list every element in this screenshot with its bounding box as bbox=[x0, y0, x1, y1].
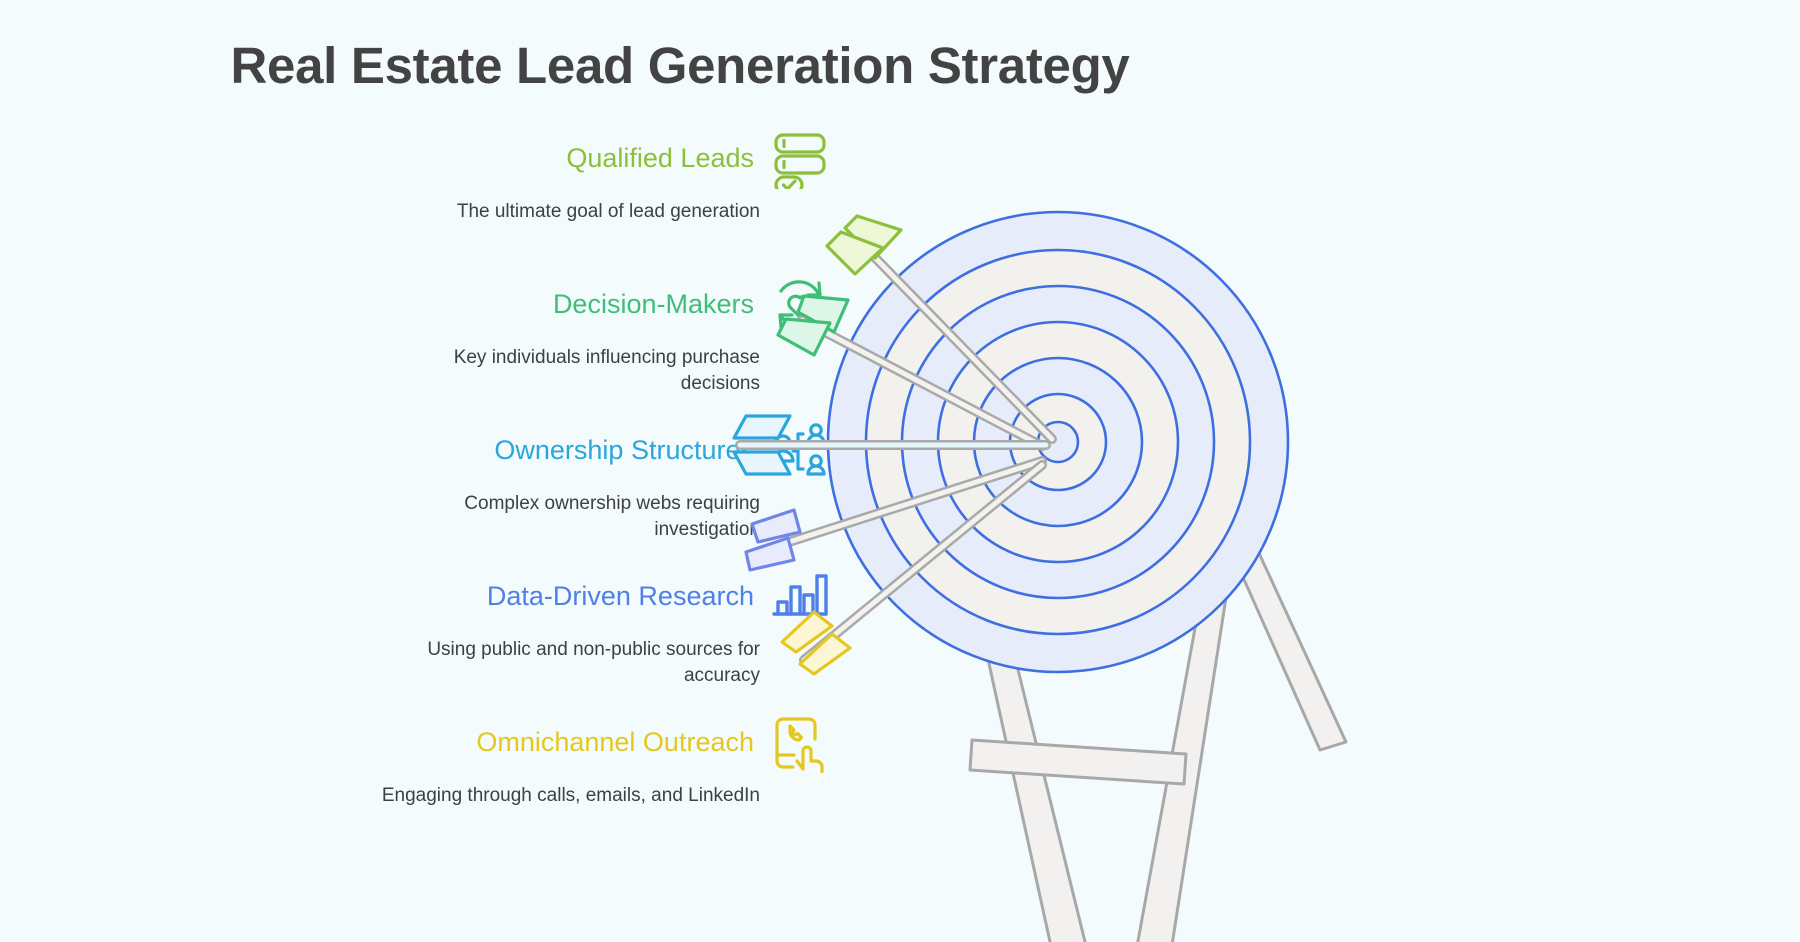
list-item-header: Data-Driven Research bbox=[300, 566, 830, 628]
list-item-description: The ultimate goal of lead generation bbox=[370, 199, 830, 225]
strategy-list: Qualified Leads The ultimate goal of lea… bbox=[300, 128, 830, 858]
list-item-description: Engaging through calls, emails, and Link… bbox=[370, 783, 830, 809]
list-item-data-driven-research: Data-Driven Research Using public and no… bbox=[300, 566, 830, 712]
page-title: Real Estate Lead Generation Strategy bbox=[0, 36, 1360, 95]
list-item-header: Qualified Leads bbox=[300, 128, 830, 190]
list-item-header: Omnichannel Outreach bbox=[300, 712, 830, 774]
archery-target-illustration bbox=[820, 180, 1580, 942]
list-item-header: Decision-Makers bbox=[300, 274, 830, 336]
list-item-omnichannel-outreach: Omnichannel Outreach Engaging through ca… bbox=[300, 712, 830, 858]
infographic-canvas: Real Estate Lead Generation Strategy Qua… bbox=[0, 0, 1800, 942]
list-item-title: Qualified Leads bbox=[566, 144, 754, 174]
list-item-title: Omnichannel Outreach bbox=[476, 728, 754, 758]
list-item-title: Decision-Makers bbox=[553, 290, 754, 320]
list-item-qualified-leads: Qualified Leads The ultimate goal of lea… bbox=[300, 128, 830, 274]
list-item-description: Using public and non-public sources for … bbox=[370, 637, 830, 689]
list-item-title: Ownership Structures bbox=[494, 436, 754, 466]
list-item-decision-makers: Decision-Makers Key individuals influenc… bbox=[300, 274, 830, 420]
list-item-description: Key individuals influencing purchase dec… bbox=[370, 345, 830, 397]
list-item-title: Data-Driven Research bbox=[487, 582, 754, 612]
